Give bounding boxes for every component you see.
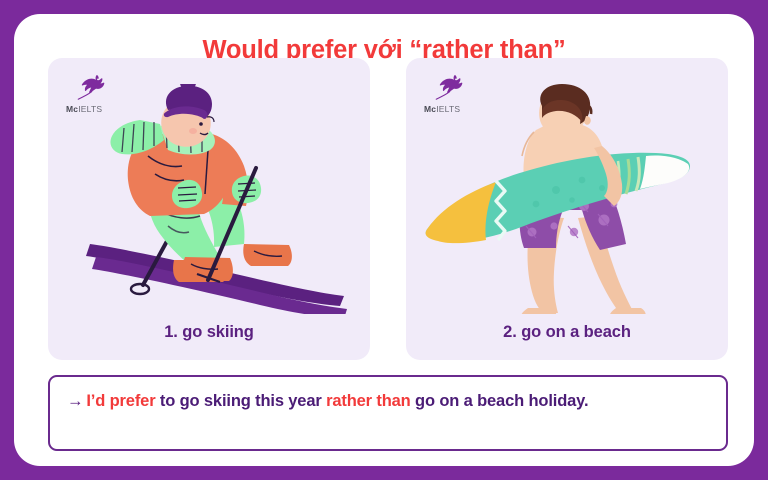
highlight-id-prefer: I’d prefer (86, 392, 155, 410)
option-panel-skiing[interactable]: McIELTS (48, 58, 370, 360)
example-sentence: →I’d prefer to go skiing this year rathe… (67, 389, 715, 414)
skier-illustration (48, 84, 370, 314)
outer-purple-frame: Would prefer với “rather than” McIELTS (0, 0, 768, 480)
option-caption-1: 1. go skiing (48, 323, 370, 342)
option-panel-beach[interactable]: McIELTS (406, 58, 728, 360)
highlight-rather-than: rather than (326, 392, 411, 410)
example-sentence-box: →I’d prefer to go skiing this year rathe… (48, 375, 728, 451)
option-caption-2: 2. go on a beach (406, 323, 728, 342)
sentence-part-end: go on a beach holiday. (411, 392, 589, 410)
surfer-illustration (406, 84, 728, 314)
sentence-part-middle: to go skiing this year (155, 392, 326, 410)
arrow-icon: → (67, 392, 83, 410)
content-card: Would prefer với “rather than” McIELTS (14, 14, 754, 466)
